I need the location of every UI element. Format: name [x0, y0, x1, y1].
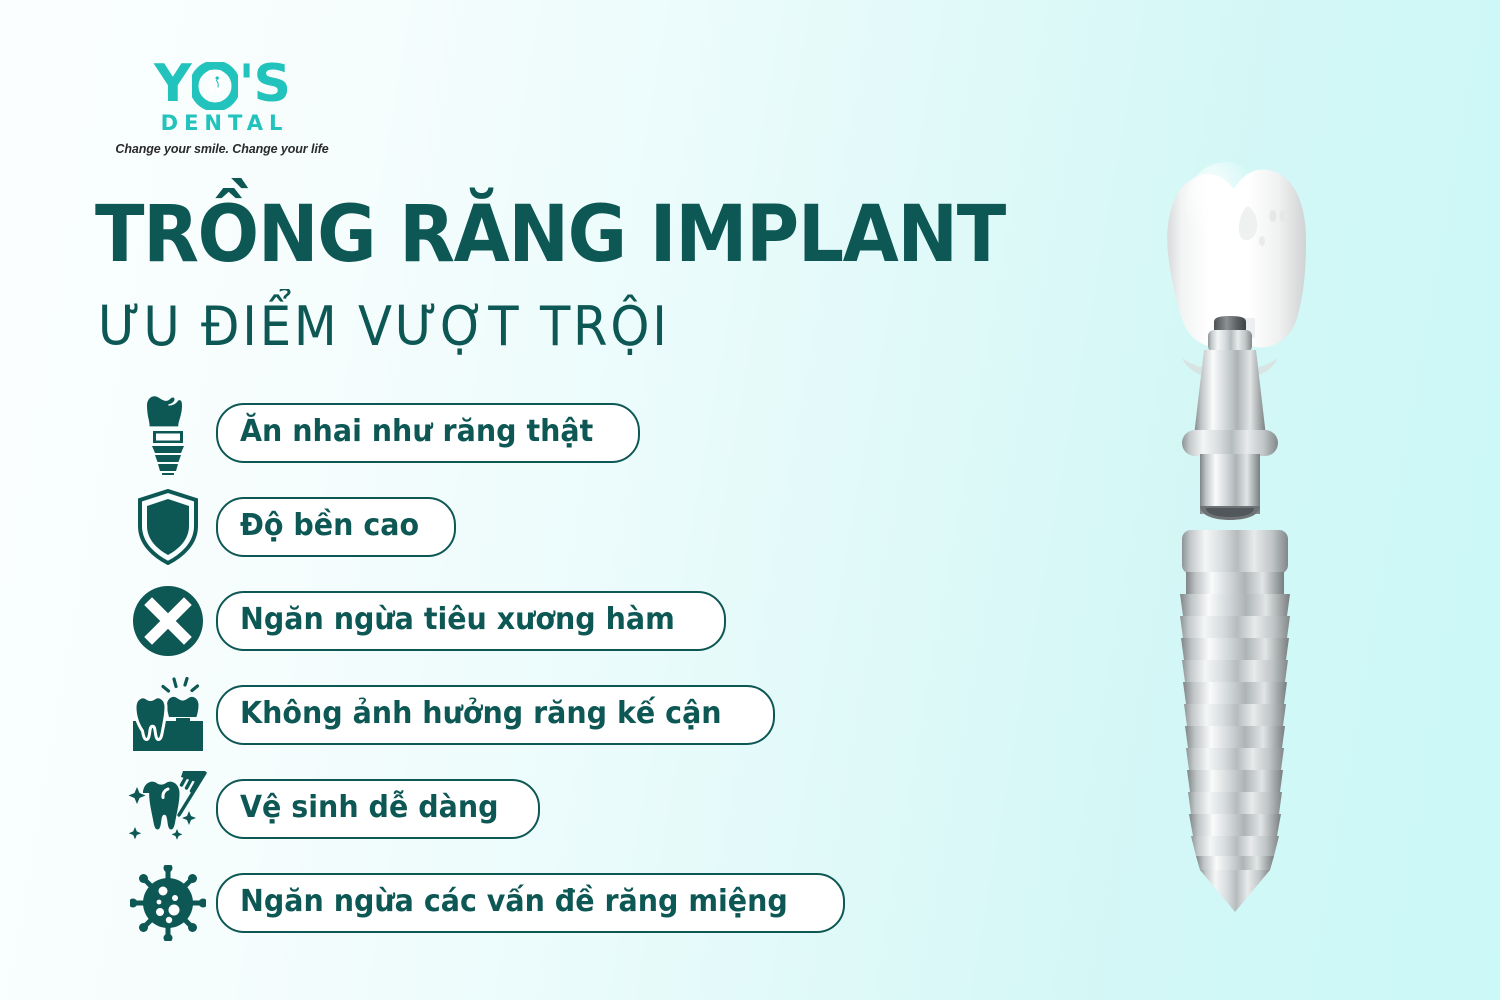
feature-label: Độ bền cao: [240, 508, 419, 543]
feature-pill[interactable]: Ăn nhai như răng thật: [216, 403, 640, 463]
feature-pill[interactable]: Độ bền cao: [216, 497, 456, 557]
feature-label: Vệ sinh dễ dàng: [240, 790, 499, 825]
list-item[interactable]: Ngăn ngừa tiêu xương hàm: [120, 574, 980, 668]
feature-pill[interactable]: Vệ sinh dễ dàng: [216, 779, 540, 839]
list-item[interactable]: Ngăn ngừa các vấn đề răng miệng: [120, 856, 980, 950]
tooth-and-implant-icon: [120, 677, 216, 753]
feature-label: Ăn nhai như răng thật: [240, 414, 593, 449]
feature-label: Ngăn ngừa các vấn đề răng miệng: [240, 884, 788, 919]
dental-implant-3d-illustration: [1120, 78, 1380, 918]
feature-pill[interactable]: Ngăn ngừa tiêu xương hàm: [216, 591, 726, 651]
feature-label: Ngăn ngừa tiêu xương hàm: [240, 602, 675, 637]
logo-tagline: Change your smile. Change your life: [92, 142, 352, 156]
page-title: TRỒNG RĂNG IMPLANT: [95, 196, 1005, 274]
logo-dental-word: DENTAL: [92, 111, 352, 135]
list-item[interactable]: Ăn nhai như răng thật: [120, 386, 980, 480]
page-subtitle: ƯU ĐIỂM VƯỢT TRỘI: [98, 300, 670, 354]
implant-screw-fixture: [1180, 530, 1290, 912]
list-item[interactable]: Không ảnh hưởng răng kế cận: [120, 668, 980, 762]
list-item[interactable]: Vệ sinh dễ dàng: [120, 762, 980, 856]
tooth-toothbrush-icon: [120, 769, 216, 849]
feature-pill[interactable]: Ngăn ngừa các vấn đề răng miệng: [216, 873, 845, 933]
list-item[interactable]: Độ bền cao: [120, 480, 980, 574]
feature-label: Không ảnh hưởng răng kế cận: [240, 696, 722, 731]
logo-letter-s: 'S: [239, 58, 290, 110]
screw-threads: [1180, 594, 1290, 856]
logo-wordmark: Y 'S: [92, 58, 352, 110]
x-circle-icon: [120, 585, 216, 657]
feature-pill[interactable]: Không ảnh hưởng răng kế cận: [216, 685, 775, 745]
logo-letter-y: Y: [154, 58, 191, 110]
feature-list: Ăn nhai như răng thật Độ bền cao Ngăn ng…: [120, 386, 980, 950]
virus-icon: [120, 865, 216, 941]
shield-icon: [120, 489, 216, 565]
dental-implant-icon: [120, 391, 216, 475]
brand-logo[interactable]: Y 'S DENTAL Change your smile. Change yo…: [92, 58, 352, 156]
tooth-in-letter-o-icon: [192, 60, 238, 108]
